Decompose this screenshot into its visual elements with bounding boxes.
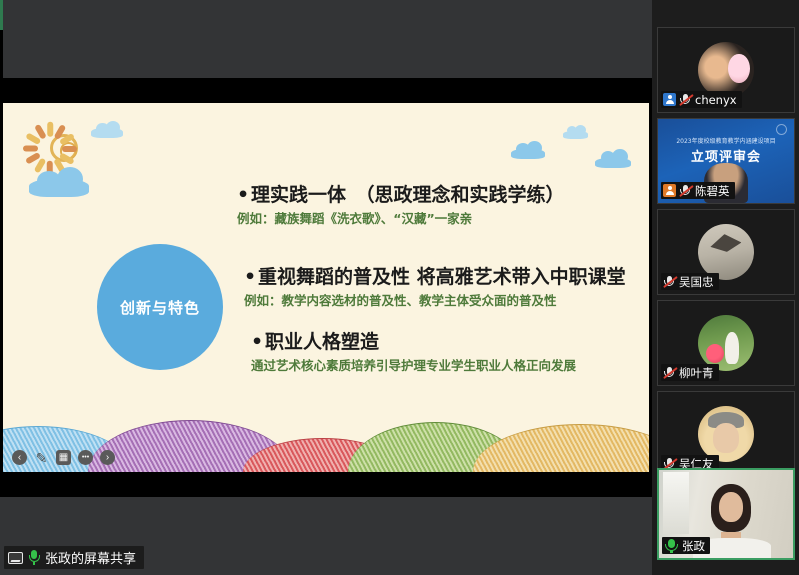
participant-badge: 吴国忠 [661,273,719,290]
bullet-marker: • [251,331,265,355]
avatar [698,315,754,371]
bullet-sub-2: 例如：教学内容选材的普及性、教学主体受众面的普及性 [244,293,626,309]
bullet-marker: • [237,184,251,208]
letterbox-top [0,78,652,103]
hill-yellow [473,424,649,472]
avatar [698,224,754,280]
letterbox-bottom [0,472,652,497]
cloud-icon [595,149,631,168]
next-slide-glyph: › [106,453,109,463]
bullet-block-1: •理实践一体 （思政理念和实践学练） 例如：藏族舞蹈《洗衣歌》、“汉藏”一家亲 [237,184,565,226]
bullet-block-2: •重视舞蹈的普及性 将高雅艺术带入中职课堂 例如：教学内容选材的普及性、教学主体… [244,266,626,308]
screen-share-label: 张政的屏幕共享 [4,546,144,569]
speaker-face [719,492,743,522]
mic-on-icon [664,538,679,553]
shared-screen-region: 创新与特色 •理实践一体 （思政理念和实践学练） 例如：藏族舞蹈《洗衣歌》、“汉… [0,0,652,575]
participant-name: 张政 [682,538,705,554]
overview-glyph: ▦ [59,453,68,463]
bullet-title-3: •职业人格塑造 [251,331,576,355]
cloud-icon [29,167,89,197]
screen-share-label-text: 张政的屏幕共享 [45,548,136,567]
more-options-button[interactable]: ••• [78,450,93,465]
participant-badge: 陈碧英 [661,182,735,199]
bullet-title-text: 职业人格塑造 [265,331,379,353]
mic-muted-icon [663,366,676,380]
participant-name: 陈碧英 [695,183,730,199]
mic-muted-icon [679,93,692,107]
cloud-icon [511,141,545,159]
participant-tile-chenyx[interactable]: chenyx [657,27,795,113]
avatar [698,42,754,98]
watermark-icon [776,124,787,135]
more-glyph: ••• [82,454,89,461]
bullet-title-text: 重视舞蹈的普及性 将高雅艺术带入中职课堂 [258,266,626,288]
shared-slide-subtitle: 2023年度校级教育教学内涵建设项目 [658,136,794,145]
bullet-sub-1: 例如：藏族舞蹈《洗衣歌》、“汉藏”一家亲 [237,211,565,227]
previous-slide-glyph: ‹ [18,453,21,463]
feature-circle-label: 创新与特色 [120,297,200,318]
powerpoint-slide: 创新与特色 •理实践一体 （思政理念和实践学练） 例如：藏族舞蹈《洗衣歌》、“汉… [3,103,649,472]
bullet-title-2: •重视舞蹈的普及性 将高雅艺术带入中职课堂 [244,266,626,290]
participant-name: chenyx [695,93,737,107]
bullet-sub-3: 通过艺术核心素质培养引导护理专业学生职业人格正向发展 [251,358,576,374]
participant-badge: chenyx [661,91,742,108]
participant-name: 柳叶青 [679,365,714,381]
participant-tile-chenbiying[interactable]: 2023年度校级教育教学内涵建设项目 立项评审会 陈碧英 [657,118,795,204]
mic-muted-icon [679,184,692,198]
cloud-icon [563,125,588,139]
feature-circle: 创新与特色 [97,244,223,370]
cloud-icon [91,121,123,138]
desktop-background-top [3,0,652,78]
previous-slide-button[interactable]: ‹ [12,450,27,465]
screen-share-icon [8,552,23,564]
participant-icon-blue [663,93,676,106]
next-slide-button[interactable]: › [100,450,115,465]
participant-icon-orange [663,184,676,197]
participant-tile-wuguozhong[interactable]: 吴国忠 [657,209,795,295]
bullet-block-3: •职业人格塑造 通过艺术核心素质培养引导护理专业学生职业人格正向发展 [251,331,576,373]
conference-window: 创新与特色 •理实践一体 （思政理念和实践学练） 例如：藏族舞蹈《洗衣歌》、“汉… [0,0,799,575]
participant-badge: 张政 [662,537,710,554]
avatar [698,406,754,462]
bullet-marker: • [244,266,258,290]
participant-name: 吴国忠 [679,274,714,290]
pen-tool-button[interactable]: ✎ [34,450,49,465]
participant-badge: 柳叶青 [661,364,719,381]
bullet-title-text: 理实践一体 （思政理念和实践学练） [251,184,565,206]
powerpoint-slideshow-toolbar[interactable]: ‹ ✎ ▦ ••• › [12,450,115,465]
mic-muted-icon [663,275,676,289]
mic-on-icon [28,550,40,565]
bullet-title-1: •理实践一体 （思政理念和实践学练） [237,184,565,208]
window-light [663,472,689,534]
slide-overview-button[interactable]: ▦ [56,450,71,465]
participant-tile-liuyeqing[interactable]: 柳叶青 [657,300,795,386]
pen-glyph: ✎ [36,451,48,465]
participant-video-strip[interactable]: chenyx 2023年度校级教育教学内涵建设项目 立项评审会 陈碧英 [652,0,799,575]
participant-tile-wurenyou[interactable]: 吴仁友 [657,391,795,477]
participant-tile-zhangzheng[interactable]: 张政 [657,468,795,560]
